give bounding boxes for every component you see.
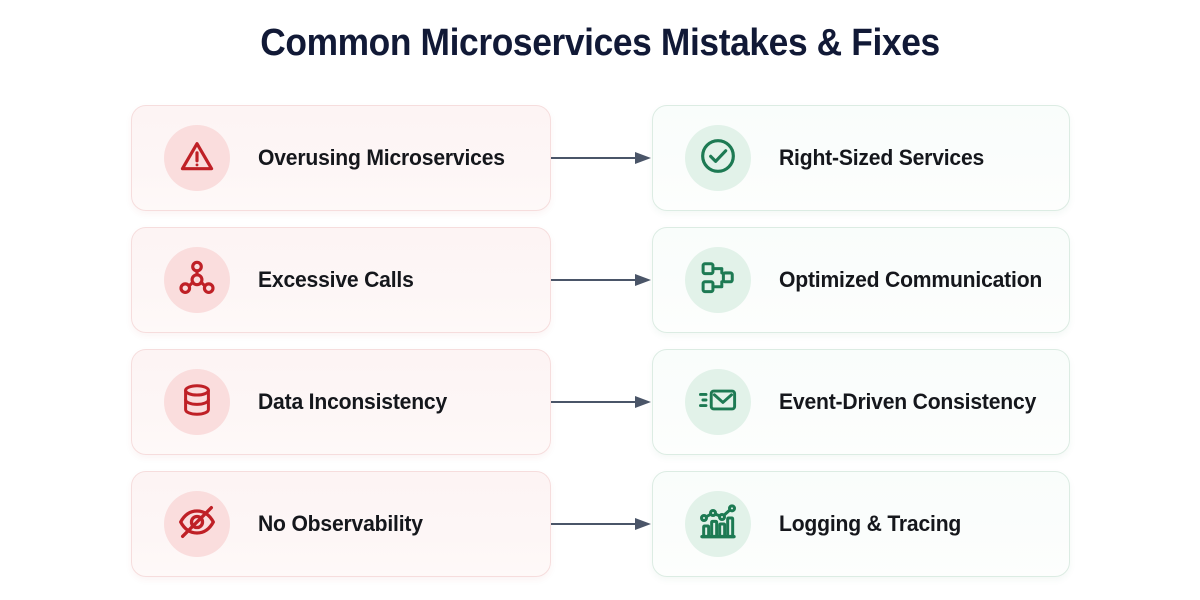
- bar-chart-trend-icon: [698, 502, 738, 547]
- fix-card-label: Right-Sized Services: [779, 145, 984, 171]
- eye-off-icon: [177, 502, 217, 547]
- workflow-nodes-icon: [699, 259, 737, 302]
- problem-card-overusing-microservices[interactable]: Overusing Microservices: [131, 105, 551, 211]
- problem-card-label: Data Inconsistency: [258, 389, 447, 415]
- fix-card-logging-tracing[interactable]: Logging & Tracing: [652, 471, 1070, 577]
- infographic-canvas: Common Microservices Mistakes & Fixes Ov…: [0, 0, 1200, 600]
- flow-arrow: [551, 395, 652, 409]
- problem-card-data-inconsistency[interactable]: Data Inconsistency: [131, 349, 551, 455]
- problem-card-excessive-calls[interactable]: Excessive Calls: [131, 227, 551, 333]
- fix-card-label: Event-Driven Consistency: [779, 389, 1036, 415]
- database-icon: [179, 382, 215, 423]
- mistake-fix-rows: Overusing Microservices Ri: [0, 105, 1200, 593]
- fix-card-label: Logging & Tracing: [779, 511, 961, 537]
- fix-icon-badge: [685, 125, 751, 191]
- mistake-fix-row: Overusing Microservices Ri: [0, 105, 1200, 227]
- check-circle-icon: [698, 136, 738, 181]
- problem-card-label: Overusing Microservices: [258, 145, 505, 171]
- problem-card-no-observability[interactable]: No Observability: [131, 471, 551, 577]
- problem-icon-badge: [164, 491, 230, 557]
- fix-card-event-driven-consistency[interactable]: Event-Driven Consistency: [652, 349, 1070, 455]
- fix-card-label: Optimized Communication: [779, 267, 1042, 293]
- warning-triangle-icon: [178, 137, 216, 180]
- mistake-fix-row: Data Inconsistency: [0, 349, 1200, 471]
- problem-icon-badge: [164, 247, 230, 313]
- mistake-fix-row: Excessive Calls: [0, 227, 1200, 349]
- fix-icon-badge: [685, 369, 751, 435]
- page-title: Common Microservices Mistakes & Fixes: [42, 22, 1158, 65]
- problem-card-label: Excessive Calls: [258, 267, 414, 293]
- network-share-icon: [178, 259, 216, 302]
- flow-arrow: [551, 151, 652, 165]
- flow-arrow: [551, 517, 652, 531]
- fix-icon-badge: [685, 491, 751, 557]
- problem-icon-badge: [164, 125, 230, 191]
- fix-card-optimized-communication[interactable]: Optimized Communication: [652, 227, 1070, 333]
- flow-arrow: [551, 273, 652, 287]
- problem-icon-badge: [164, 369, 230, 435]
- problem-card-label: No Observability: [258, 511, 423, 537]
- mistake-fix-row: No Observability: [0, 471, 1200, 593]
- fix-icon-badge: [685, 247, 751, 313]
- fix-card-right-sized-services[interactable]: Right-Sized Services: [652, 105, 1070, 211]
- mail-event-icon: [698, 380, 738, 425]
